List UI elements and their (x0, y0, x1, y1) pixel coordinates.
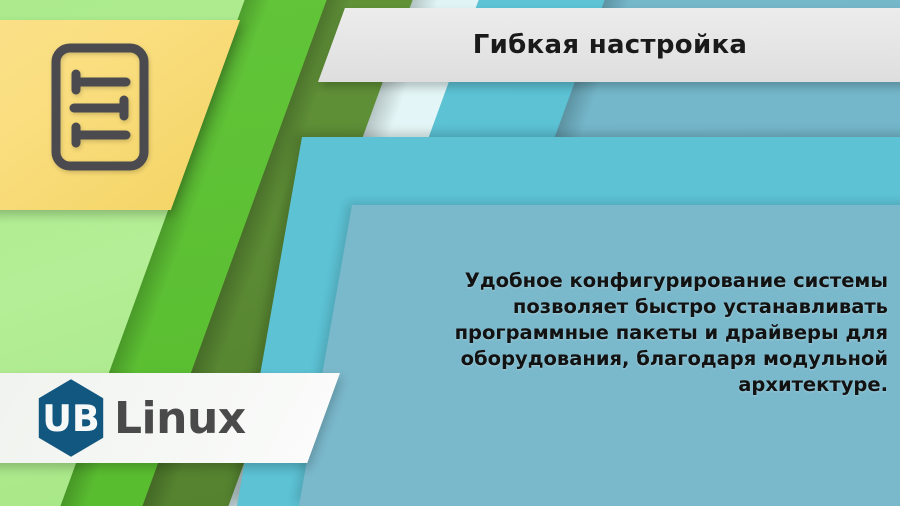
slide-canvas: UB Гибкая настройка Удобное конфигуриров… (0, 0, 900, 506)
page-title: Гибкая настройка (330, 8, 890, 82)
ub-hexagon-icon: UB (30, 377, 112, 459)
settings-sliders-document-icon (50, 42, 150, 172)
logo-wordmark: Linux (114, 393, 246, 444)
brand-logo: UB Linux (30, 373, 246, 463)
svg-text:UB: UB (42, 397, 100, 440)
body-text: Удобное конфигурирование системы позволя… (408, 268, 888, 398)
